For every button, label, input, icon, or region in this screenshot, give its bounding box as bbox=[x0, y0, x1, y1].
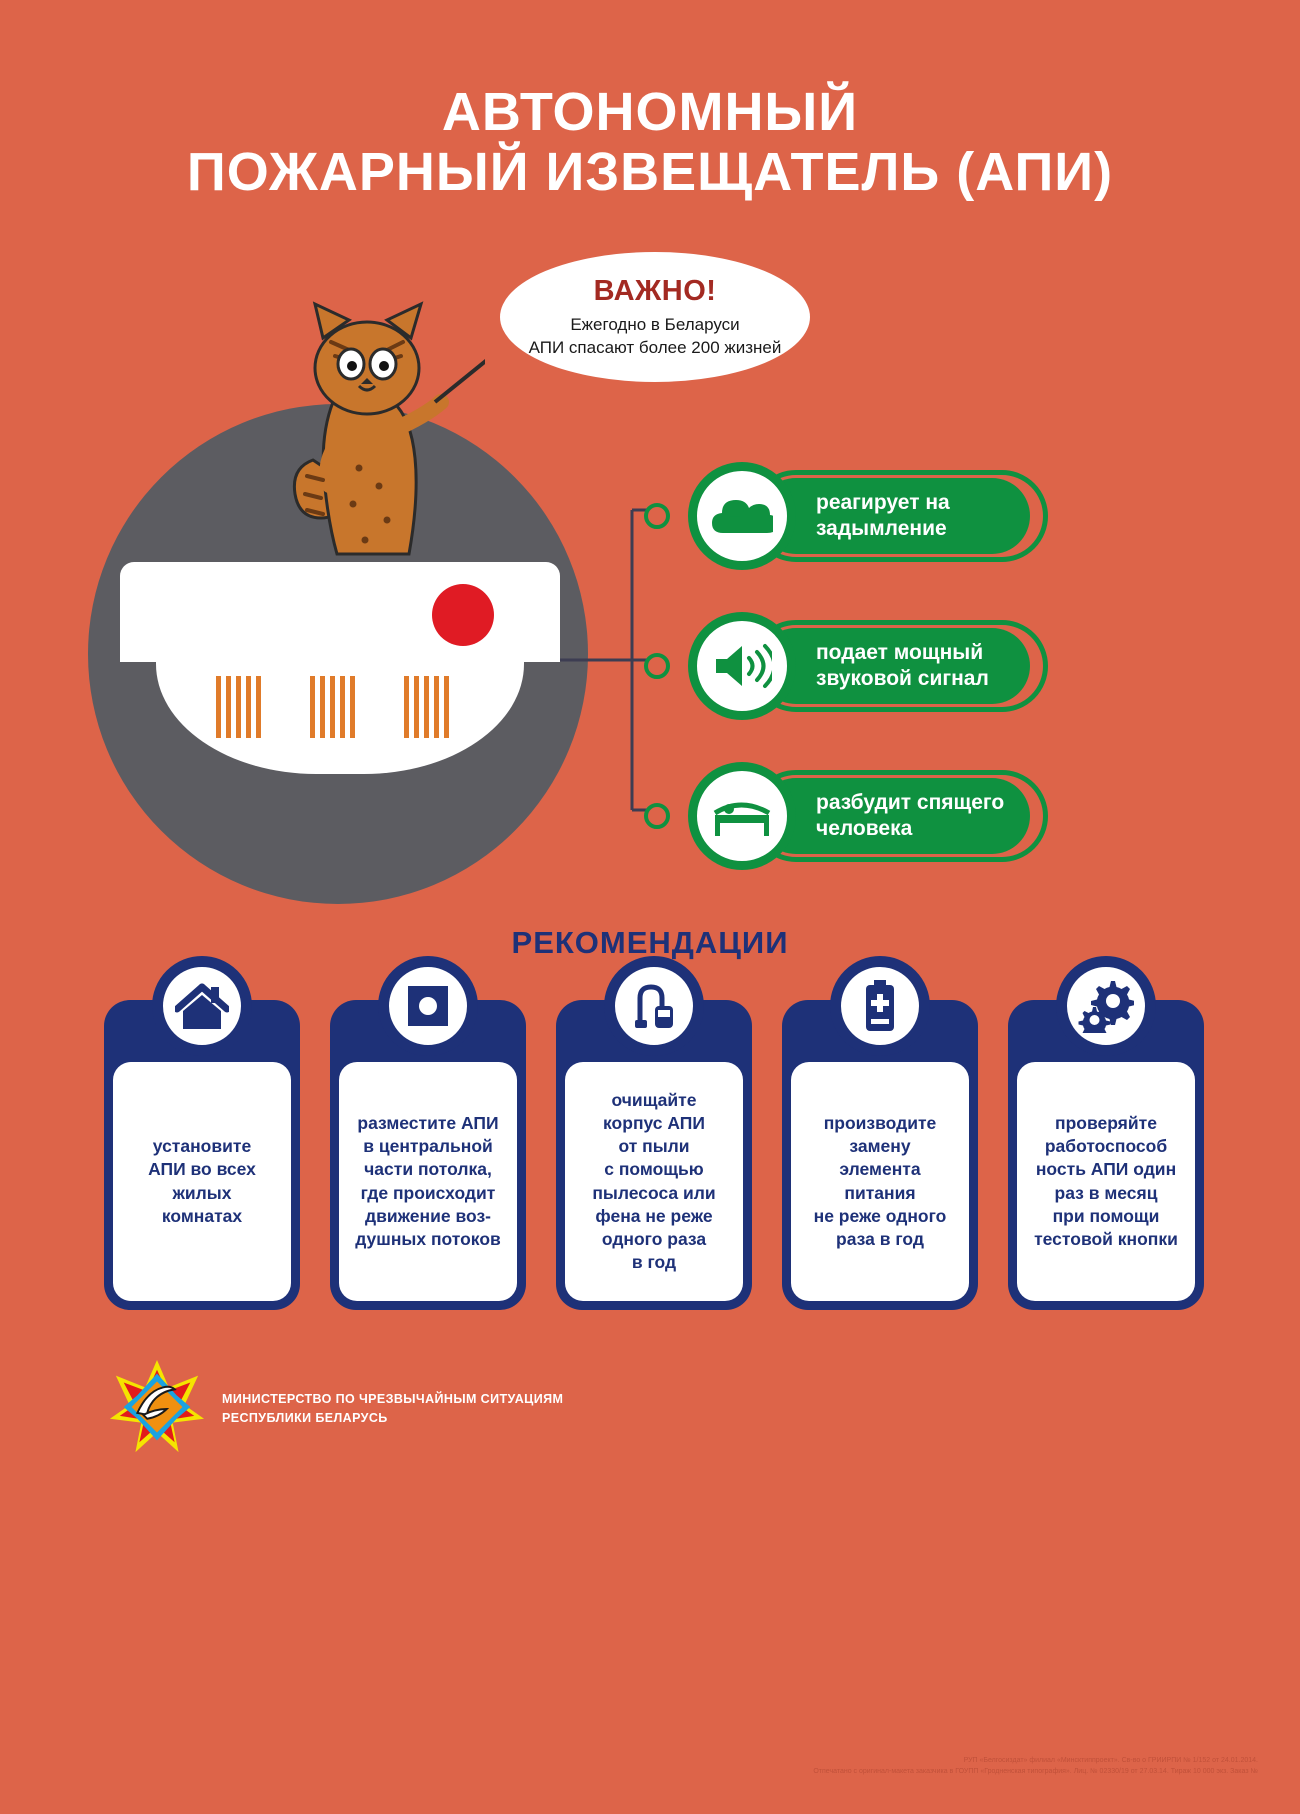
recommendation-card-install[interactable]: установите АПИ во всех жилых комнатах bbox=[104, 1000, 300, 1310]
feature-icon-wrap-2 bbox=[688, 612, 796, 720]
speaker-sound-icon bbox=[712, 641, 772, 691]
card-text-4: производите замену элемента питания не р… bbox=[814, 1112, 947, 1251]
ministry-caption: МИНИСТЕРСТВО ПО ЧРЕЗВЫЧАЙНЫМ СИТУАЦИЯМ Р… bbox=[222, 1390, 563, 1428]
detector-led-indicator bbox=[432, 584, 494, 646]
imprint-text: РУП «Белгосиздат» филиал «Минсктиппроект… bbox=[598, 1756, 1258, 1778]
connector-node-2 bbox=[644, 653, 670, 679]
important-callout-bubble: ВАЖНО! Ежегодно в Беларуси АПИ спасают б… bbox=[500, 252, 810, 382]
recommendation-card-cleaning[interactable]: очищайте корпус АПИ от пыли с помощью пы… bbox=[556, 1000, 752, 1310]
card-body-3: очищайте корпус АПИ от пыли с помощью пы… bbox=[565, 1062, 743, 1301]
callout-heading: ВАЖНО! bbox=[594, 275, 717, 308]
card-icon-wrap-5 bbox=[1056, 956, 1156, 1056]
bed-sleeping-icon bbox=[711, 793, 773, 839]
smoke-cloud-icon bbox=[711, 493, 773, 539]
detector-vent-left bbox=[216, 676, 274, 738]
card-body-4: производите замену элемента питания не р… bbox=[791, 1062, 969, 1301]
poster-root: АВТОНОМНЫЙ ПОЖАРНЫЙ ИЗВЕЩАТЕЛЬ (АПИ) bbox=[0, 0, 1300, 1814]
cat-mascot-icon bbox=[255, 290, 485, 590]
feature-icon-wrap-3 bbox=[688, 762, 796, 870]
feature-pill-2: подает мощный звуковой сигнал bbox=[758, 628, 1030, 704]
vacuum-cleaner-icon bbox=[628, 980, 680, 1032]
card-body-2: разместите АПИ в центральной части потол… bbox=[339, 1062, 517, 1301]
mchs-emblem-icon bbox=[108, 1358, 206, 1456]
card-icon-wrap-3 bbox=[604, 956, 704, 1056]
card-text-5: проверяйте работоспособ ность АПИ один р… bbox=[1034, 1112, 1178, 1251]
page-title: АВТОНОМНЫЙ ПОЖАРНЫЙ ИЗВЕЩАТЕЛЬ (АПИ) bbox=[0, 82, 1300, 203]
connector-node-3 bbox=[644, 803, 670, 829]
feature-item-wake[interactable]: разбудит спящего человека bbox=[688, 762, 1048, 870]
callout-line-2: АПИ спасают более 200 жизней bbox=[529, 337, 782, 360]
card-icon-wrap-2 bbox=[378, 956, 478, 1056]
card-text-3: очищайте корпус АПИ от пыли с помощью пы… bbox=[592, 1089, 715, 1274]
recommendation-card-battery[interactable]: производите замену элемента питания не р… bbox=[782, 1000, 978, 1310]
connector-node-1 bbox=[644, 503, 670, 529]
smoke-detector-illustration bbox=[120, 562, 560, 772]
recommendation-card-testing[interactable]: проверяйте работоспособ ность АПИ один р… bbox=[1008, 1000, 1204, 1310]
house-icon bbox=[175, 981, 229, 1031]
card-icon-wrap-1 bbox=[152, 956, 252, 1056]
feature-pill-3: разбудит спящего человека bbox=[758, 778, 1030, 854]
card-text-1: установите АПИ во всех жилых комнатах bbox=[148, 1135, 256, 1227]
battery-icon bbox=[863, 979, 897, 1033]
title-line-2: ПОЖАРНЫЙ ИЗВЕЩАТЕЛЬ (АПИ) bbox=[0, 142, 1300, 202]
card-body-5: проверяйте работоспособ ность АПИ один р… bbox=[1017, 1062, 1195, 1301]
feature-pill-1: реагирует на задымление bbox=[758, 478, 1030, 554]
title-line-1: АВТОНОМНЫЙ bbox=[0, 82, 1300, 142]
card-body-1: установите АПИ во всех жилых комнатах bbox=[113, 1062, 291, 1301]
feature-item-sound[interactable]: подает мощный звуковой сигнал bbox=[688, 612, 1048, 720]
detector-vent-center bbox=[310, 676, 368, 738]
recommendations-card-list: установите АПИ во всех жилых комнатах ра… bbox=[104, 1000, 1204, 1320]
recommendation-card-placement[interactable]: разместите АПИ в центральной части потол… bbox=[330, 1000, 526, 1310]
ceiling-mount-icon bbox=[403, 981, 453, 1031]
detector-vent-right bbox=[404, 676, 462, 738]
card-text-2: разместите АПИ в центральной части потол… bbox=[355, 1112, 501, 1251]
gears-icon bbox=[1078, 979, 1134, 1033]
feature-item-smoke[interactable]: реагирует на задымление bbox=[688, 462, 1048, 570]
callout-line-1: Ежегодно в Беларуси bbox=[570, 314, 739, 337]
card-icon-wrap-4 bbox=[830, 956, 930, 1056]
feature-icon-wrap-1 bbox=[688, 462, 796, 570]
